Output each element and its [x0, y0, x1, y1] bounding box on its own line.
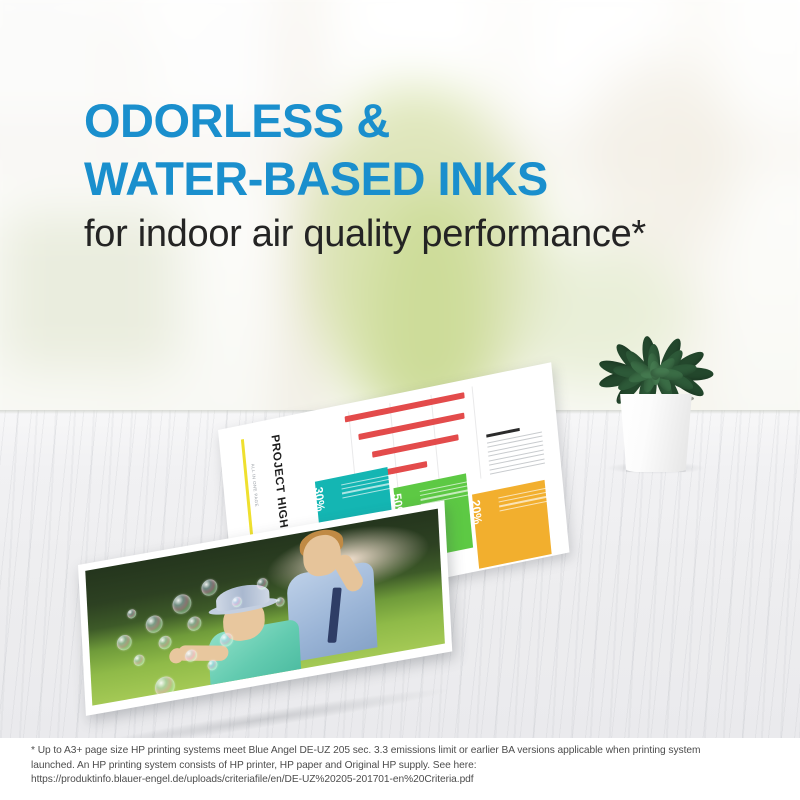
younger-child-arm [177, 645, 230, 661]
footnote-line-3: https://produktinfo.blauer-engel.de/uplo… [31, 773, 776, 788]
footnote-band: * Up to A3+ page size HP printing system… [0, 738, 800, 800]
ceramic-pot [617, 394, 695, 472]
footnote-line-2: launched. An HP printing system consists… [31, 759, 776, 774]
brochure-gridline [472, 386, 482, 478]
brochure-stat-value: 30% [312, 486, 328, 513]
soap-bubble [172, 593, 192, 615]
soap-bubble [117, 634, 133, 652]
brochure-kicker: ALL IN ONE PAGE [250, 463, 259, 507]
brochure-stat-value: 20% [469, 499, 485, 526]
brochure-stat-text [498, 487, 551, 514]
brochure-bar [386, 461, 428, 475]
brochure-bar [372, 434, 459, 457]
page-title: ODORLESS & WATER-BASED INKS [84, 92, 548, 208]
headline-line-2: WATER-BASED INKS [84, 150, 548, 208]
headline-line-1: ODORLESS & [84, 92, 548, 150]
person-younger-child [200, 574, 313, 686]
marketing-poster: ODORLESS & WATER-BASED INKS for indoor a… [0, 0, 800, 800]
soap-bubble [145, 614, 163, 634]
brochure-stat-box: 20% [472, 480, 552, 569]
legal-footnote: * Up to A3+ page size HP printing system… [31, 744, 776, 788]
brochure-sidebar-text [486, 423, 545, 478]
brochure-stat-text [341, 474, 394, 501]
footnote-line-1: * Up to A3+ page size HP printing system… [31, 744, 776, 759]
soap-bubble [133, 654, 144, 667]
soap-bubble [155, 675, 176, 699]
younger-child-hand [169, 647, 185, 665]
soap-bubble [187, 615, 202, 632]
subheadline: for indoor air quality performance* [84, 213, 646, 256]
soap-bubble [127, 609, 136, 620]
soap-bubble [158, 635, 171, 650]
potted-plant [600, 310, 710, 470]
